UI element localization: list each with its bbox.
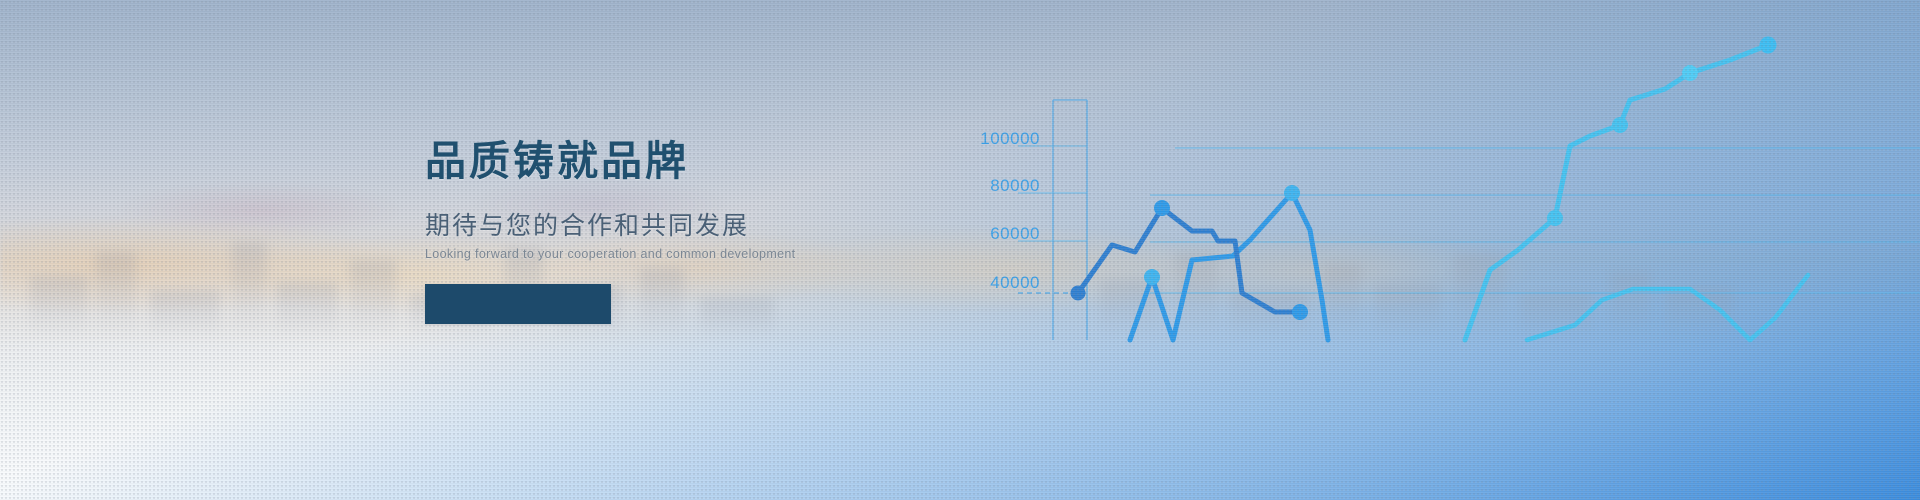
subtitle-en: Looking forward to your cooperation and … bbox=[425, 247, 895, 262]
hero-banner: 100000 80000 60000 40000 bbox=[0, 0, 1920, 500]
hero-copy: 品质铸就品牌 期待与您的合作和共同发展 Looking forward to y… bbox=[425, 140, 895, 324]
scanline-texture-overlay bbox=[0, 0, 1920, 500]
page-title: 品质铸就品牌 bbox=[425, 140, 895, 183]
subtitle-cn: 期待与您的合作和共同发展 bbox=[425, 213, 895, 241]
cta-button[interactable] bbox=[425, 284, 611, 324]
